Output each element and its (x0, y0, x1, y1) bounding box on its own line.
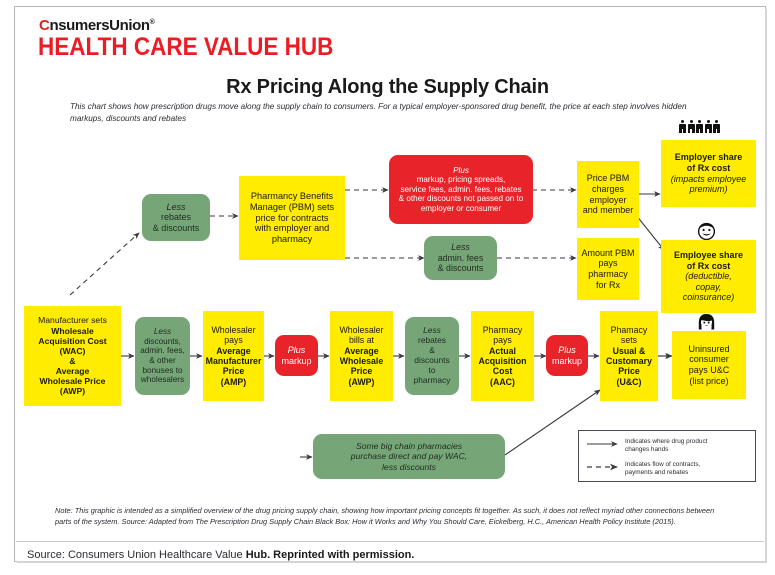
node-amount-pbm-pays: Amount PBM pays pharmacy for Rx (577, 238, 639, 300)
node-big-chain-pharmacies: Some big chain pharmacies purchase direc… (313, 434, 505, 479)
less-label-2: Less (451, 242, 470, 252)
people-group-icon (679, 120, 720, 133)
node-less-discounts-wholesalers: Less discounts, admin. fees, & other bon… (135, 317, 190, 395)
logo-c-letter: C (39, 17, 49, 34)
source-line: Source: Consumers Union Healthcare Value… (27, 549, 414, 561)
node-uninsured-consumer: Uninsured consumer pays U&C (list price) (672, 331, 746, 399)
masthead-title: HEALTH CARE VALUE HUB (38, 35, 333, 60)
person-icon (696, 120, 703, 133)
node-less-admin-fees: Less admin. fees & discounts (424, 236, 497, 280)
node-plus-markup-2: Plus markup (546, 335, 588, 376)
consumer-face-icon (697, 313, 716, 332)
node-wholesaler-pays-amp: Wholesaler pays Average Manufacturer Pri… (203, 311, 264, 401)
node-manufacturer: Manufacturer sets Wholesale Acquisition … (24, 306, 121, 406)
logo-wordmark: nsumersUnion (49, 17, 149, 34)
less-label: Less (166, 202, 185, 212)
registered-mark: ® (150, 19, 155, 26)
node-employer-share: Employer share of Rx cost (impacts emplo… (661, 140, 756, 207)
source-bold: Hub. Reprinted with permission. (246, 549, 415, 561)
node-less-rebates-discounts: Less rebates & discounts (142, 194, 210, 241)
chart-title: Rx Pricing Along the Supply Chain (0, 76, 775, 99)
consumers-union-logo: CnsumersUnion® (39, 17, 154, 34)
node-pbm: Pharmancy Benefits Manager (PBM) sets pr… (239, 176, 345, 260)
node-pharmacy-sets-uc: Phamacy sets Usual & Customary Price (U&… (600, 311, 658, 401)
screenshot-page: CnsumersUnion® HEALTH CARE VALUE HUB Rx … (0, 0, 775, 575)
person-icon (713, 120, 720, 133)
node-wholesaler-bills-awp: Wholesaler bills at Average Wholesale Pr… (330, 311, 393, 401)
node-pharmacy-pays-aac: Pharmacy pays Actual Acquisition Cost (A… (471, 311, 534, 401)
chart-subtitle: This chart shows how prescription drugs … (70, 101, 710, 125)
legend-dashed-label: Indicates flow of contracts, payments an… (625, 461, 753, 477)
source-prefix: Source: Consumers Union Healthcare Value (27, 549, 246, 561)
legend-solid-label: Indicates where drug product changes han… (625, 438, 753, 454)
node-less-rebates-pharmacy: Less rebates & discounts to pharmacy (405, 317, 459, 395)
node-plus-markup-1: Plus markup (275, 335, 318, 376)
smiling-face-icon (697, 222, 716, 241)
node-price-pbm-charges: Price PBM charges employer and member (577, 161, 639, 228)
legend-box: Indicates where drug product changes han… (578, 430, 756, 482)
node-plus-markup-red: Plus markup, pricing spreads, service fe… (389, 155, 533, 224)
person-icon (705, 120, 712, 133)
chart-note: Note: This graphic is intended as a simp… (55, 505, 715, 527)
footer-divider (16, 541, 764, 542)
person-icon (679, 120, 686, 133)
plus-label: Plus (453, 166, 469, 175)
person-icon (688, 120, 695, 133)
node-employee-share: Employee share of Rx cost (deductible, c… (661, 240, 756, 313)
